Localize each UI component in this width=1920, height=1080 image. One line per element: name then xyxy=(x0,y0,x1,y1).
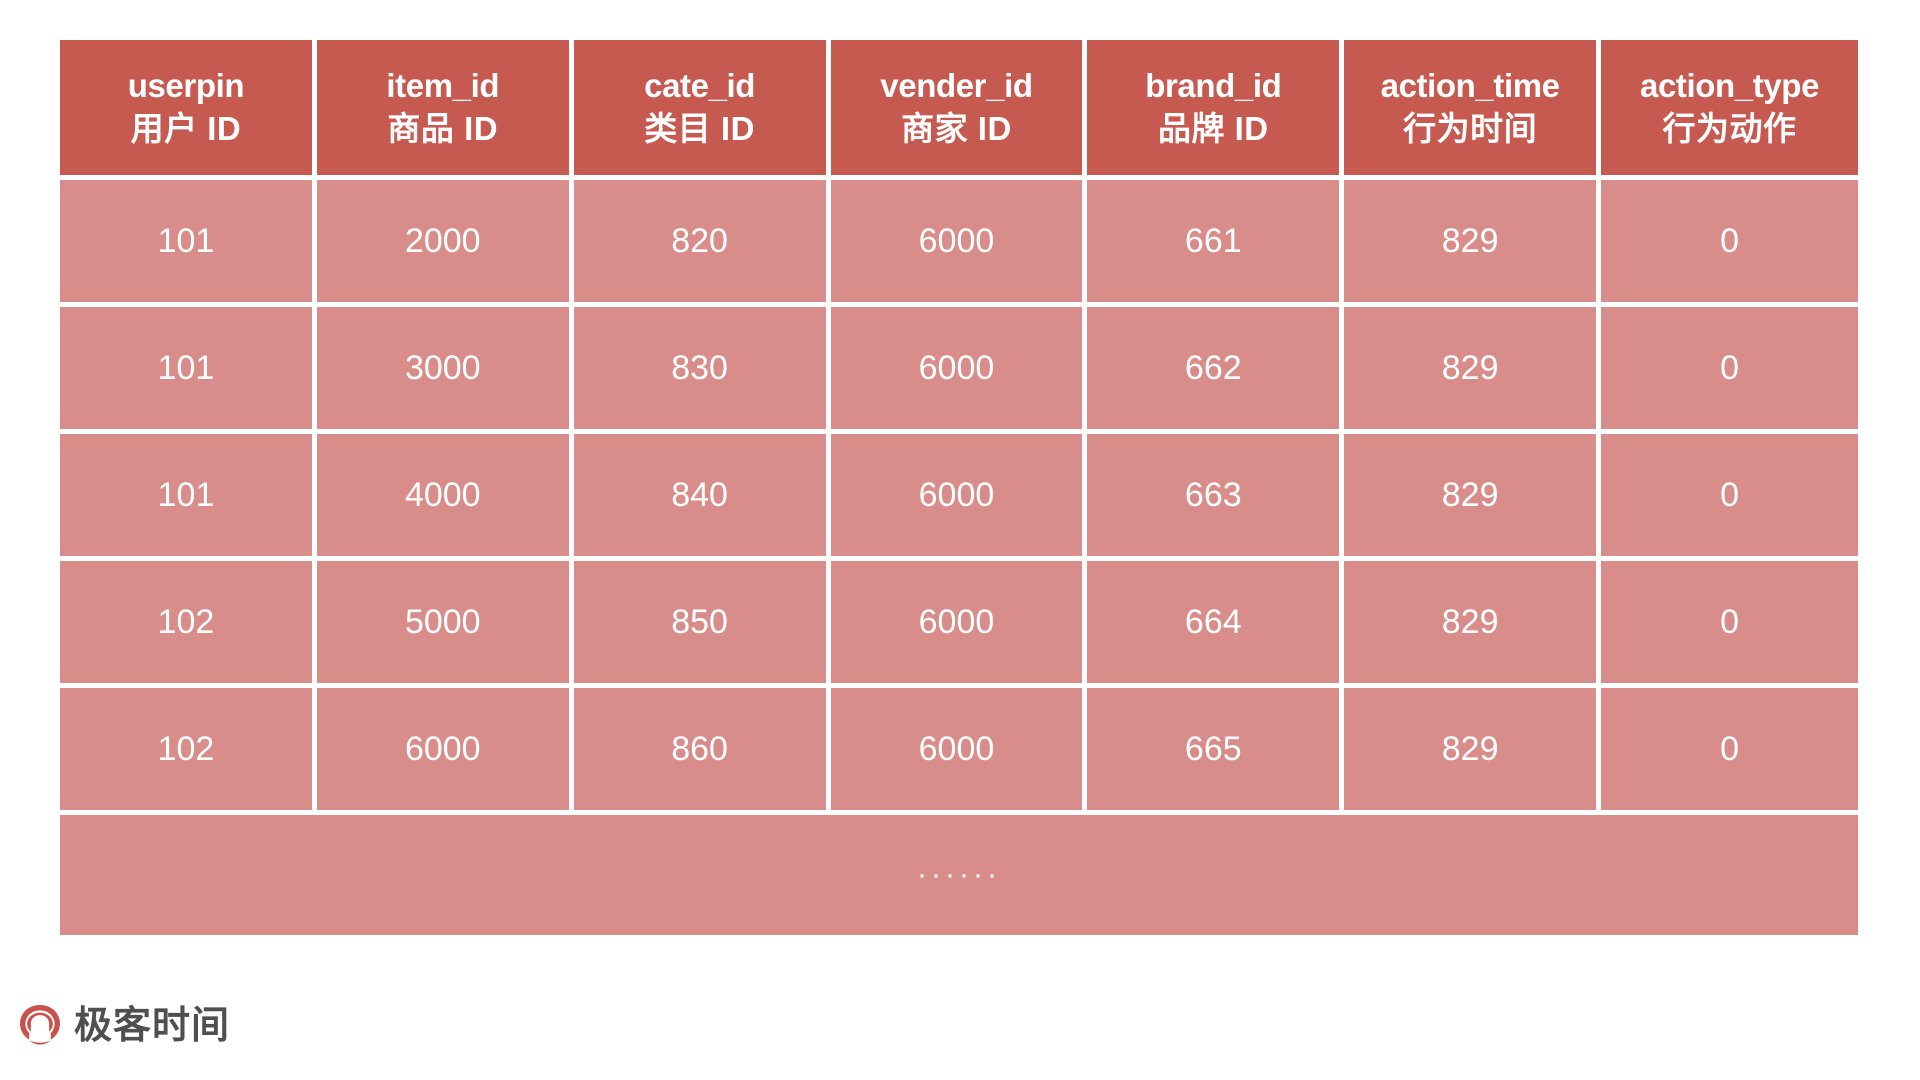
table-ellipsis-row: ······ xyxy=(60,815,1858,935)
table-cell-userpin: 101 xyxy=(60,434,317,561)
column-header-en: brand_id xyxy=(1087,67,1339,106)
table-row: 102500085060006648290 xyxy=(60,561,1858,688)
table-cell-item-id: 4000 xyxy=(317,434,574,561)
column-header-action-time[interactable]: action_time行为时间 xyxy=(1344,40,1601,180)
table-cell-action-time: 829 xyxy=(1344,307,1601,434)
user-action-table: userpin用户 IDitem_id商品 IDcate_id类目 IDvend… xyxy=(60,40,1858,935)
table-cell-item-id: 5000 xyxy=(317,561,574,688)
table-cell-action-type: 0 xyxy=(1601,434,1858,561)
table-cell-action-type: 0 xyxy=(1601,688,1858,815)
table-cell-brand-id: 662 xyxy=(1087,307,1344,434)
column-header-item-id[interactable]: item_id商品 ID xyxy=(317,40,574,180)
table-cell-action-type: 0 xyxy=(1601,561,1858,688)
page-root: userpin用户 IDitem_id商品 IDcate_id类目 IDvend… xyxy=(0,0,1920,1080)
column-header-userpin[interactable]: userpin用户 ID xyxy=(60,40,317,180)
data-table-container: userpin用户 IDitem_id商品 IDcate_id类目 IDvend… xyxy=(60,40,1858,935)
table-cell-brand-id: 665 xyxy=(1087,688,1344,815)
table-cell-vender-id: 6000 xyxy=(831,307,1088,434)
table-cell-brand-id: 663 xyxy=(1087,434,1344,561)
column-header-cn: 品牌 ID xyxy=(1087,110,1339,149)
table-cell-cate-id: 850 xyxy=(574,561,831,688)
geektime-logo: 极客时间 xyxy=(16,1002,230,1050)
column-header-cn: 行为时间 xyxy=(1344,110,1596,149)
column-header-cn: 类目 ID xyxy=(574,110,826,149)
column-header-en: action_time xyxy=(1344,67,1596,106)
column-header-en: item_id xyxy=(317,67,569,106)
column-header-cate-id[interactable]: cate_id类目 ID xyxy=(574,40,831,180)
table-cell-item-id: 6000 xyxy=(317,688,574,815)
table-cell-cate-id: 840 xyxy=(574,434,831,561)
table-cell-brand-id: 661 xyxy=(1087,180,1344,307)
table-cell-action-time: 829 xyxy=(1344,434,1601,561)
table-cell-action-time: 829 xyxy=(1344,688,1601,815)
table-cell-vender-id: 6000 xyxy=(831,434,1088,561)
table-cell-vender-id: 6000 xyxy=(831,688,1088,815)
column-header-en: vender_id xyxy=(831,67,1083,106)
table-cell-cate-id: 860 xyxy=(574,688,831,815)
table-cell-action-type: 0 xyxy=(1601,307,1858,434)
table-row: 102600086060006658290 xyxy=(60,688,1858,815)
column-header-brand-id[interactable]: brand_id品牌 ID xyxy=(1087,40,1344,180)
table-header: userpin用户 IDitem_id商品 IDcate_id类目 IDvend… xyxy=(60,40,1858,180)
table-row: 101300083060006628290 xyxy=(60,307,1858,434)
geektime-logo-icon xyxy=(16,1002,64,1050)
table-header-row: userpin用户 IDitem_id商品 IDcate_id类目 IDvend… xyxy=(60,40,1858,180)
table-cell-userpin: 101 xyxy=(60,307,317,434)
table-cell-action-time: 829 xyxy=(1344,561,1601,688)
table-cell-item-id: 2000 xyxy=(317,180,574,307)
column-header-action-type[interactable]: action_type行为动作 xyxy=(1601,40,1858,180)
table-cell-cate-id: 820 xyxy=(574,180,831,307)
table-ellipsis-cell: ······ xyxy=(60,815,1858,935)
table-row: 101400084060006638290 xyxy=(60,434,1858,561)
table-cell-item-id: 3000 xyxy=(317,307,574,434)
table-cell-userpin: 102 xyxy=(60,561,317,688)
table-cell-brand-id: 664 xyxy=(1087,561,1344,688)
table-cell-userpin: 101 xyxy=(60,180,317,307)
geektime-logo-text: 极客时间 xyxy=(74,1007,230,1045)
column-header-cn: 商品 ID xyxy=(317,110,569,149)
table-cell-vender-id: 6000 xyxy=(831,561,1088,688)
table-row: 101200082060006618290 xyxy=(60,180,1858,307)
column-header-en: cate_id xyxy=(574,67,826,106)
table-cell-userpin: 102 xyxy=(60,688,317,815)
table-body: 1012000820600066182901013000830600066282… xyxy=(60,180,1858,935)
table-cell-action-type: 0 xyxy=(1601,180,1858,307)
table-cell-action-time: 829 xyxy=(1344,180,1601,307)
column-header-vender-id[interactable]: vender_id商家 ID xyxy=(831,40,1088,180)
column-header-en: userpin xyxy=(60,67,312,106)
table-cell-cate-id: 830 xyxy=(574,307,831,434)
table-cell-vender-id: 6000 xyxy=(831,180,1088,307)
column-header-cn: 商家 ID xyxy=(831,110,1083,149)
column-header-cn: 用户 ID xyxy=(60,110,312,149)
column-header-cn: 行为动作 xyxy=(1601,110,1858,149)
column-header-en: action_type xyxy=(1601,67,1858,106)
